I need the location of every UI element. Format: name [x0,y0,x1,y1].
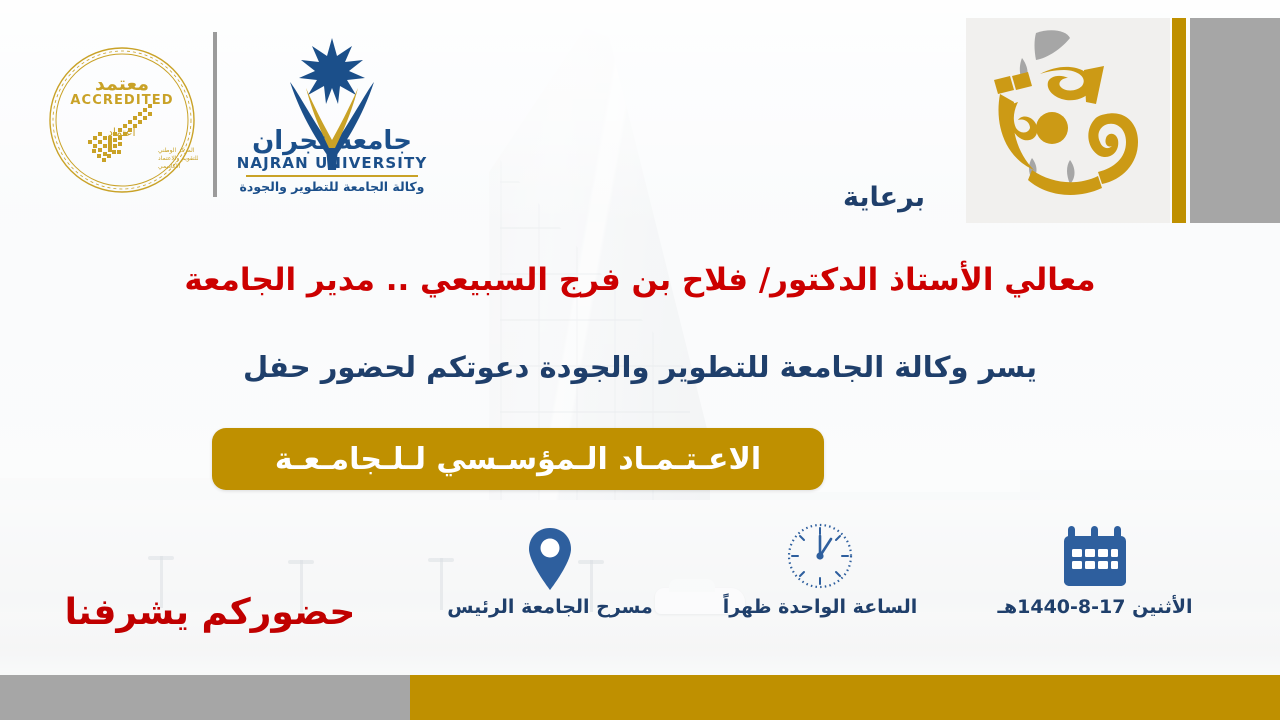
seal-authority-line2: للتقويم والاعتماد [158,155,198,162]
starburst-icon [299,38,365,104]
bottom-gold-bar [410,675,1280,720]
info-item-time: الساعة الواحدة ظهراً [700,520,940,618]
leaf-shape [1035,30,1071,60]
bottom-gray-bar [0,675,410,720]
event-title: الاعـتـمـاد الـمؤسـسي لـلـجامـعـة [275,442,761,477]
seal-authority-line3: الأكاديمي [158,162,181,170]
clock-icon [784,520,856,592]
invitation-text: يسر وكالة الجامعة للتطوير والجودة دعوتكم… [0,350,1280,384]
invitation-poster: معتمد ACCREDITED [0,0,1280,720]
info-item-date: الأثنين 17-8-1440هـ [970,520,1220,618]
logo-gold-rule [246,175,418,177]
location-pin-icon [527,520,573,592]
seal-arabic-sub: اعتماد [108,126,136,139]
sponsor-name: معالي الأستاذ الدكتور/ فلاح بن فرج السبي… [0,262,1280,298]
accreditation-seal: معتمد ACCREDITED [46,44,198,196]
honor-text: حضوركم يشرفنا [30,592,390,633]
sponsor-label: برعاية [244,182,1280,213]
logo-divider [213,32,217,197]
info-item-location: مسرح الجامعة الرئيس [430,520,670,618]
seal-english-title: ACCREDITED [70,93,173,108]
university-english-name: NAJRAN UNIVERSITY [232,154,432,172]
calendar-icon [1061,520,1129,592]
info-label-location: مسرح الجامعة الرئيس [447,596,653,618]
info-label-date: الأثنين 17-8-1440هـ [997,596,1192,618]
event-title-banner: الاعـتـمـاد الـمؤسـسي لـلـجامـعـة [212,428,824,490]
najran-university-logo: جامعة نجران NAJRAN UNIVERSITY وكالة الجا… [232,30,432,202]
seal-authority-line1: المركز الوطني [158,147,195,154]
seal-arabic-title: معتمد [95,73,149,95]
university-arabic-name: جامعة نجران [232,126,432,156]
calligraphy-strokes [994,66,1138,195]
info-label-time: الساعة الواحدة ظهراً [723,596,918,618]
